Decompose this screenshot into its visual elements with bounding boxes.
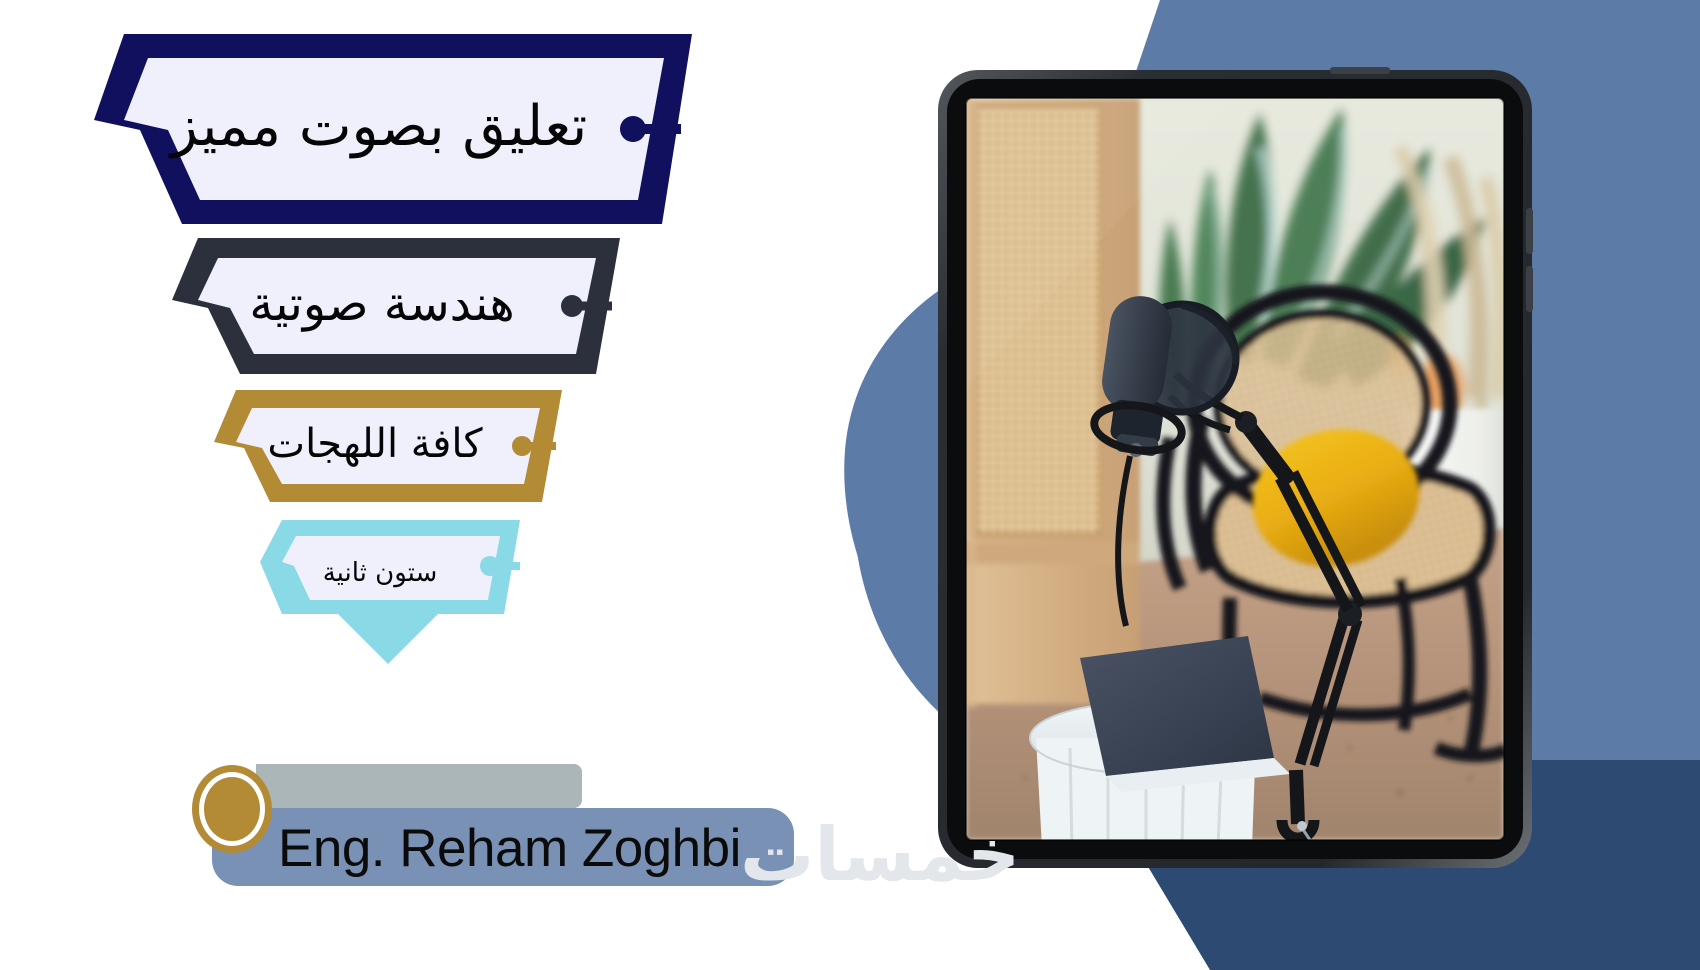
feature-banner-dialects-label: كافة اللهجات bbox=[267, 424, 482, 464]
feature-banner-voice[interactable]: تعليق بصوت مميز bbox=[78, 32, 696, 226]
feature-banner-duration[interactable]: ستون ثانية bbox=[252, 518, 524, 664]
banner-dot-stem bbox=[490, 562, 520, 570]
gold-ring-badge-icon bbox=[190, 764, 274, 854]
tablet-screen bbox=[950, 98, 1516, 865]
banner-dot-stem bbox=[572, 302, 612, 311]
signature-gray-bar bbox=[256, 764, 582, 808]
feature-banner-duration-label: ستون ثانية bbox=[323, 560, 438, 586]
tablet-volume-button-down[interactable] bbox=[1526, 266, 1533, 312]
watermark-khamsat: خمسات bbox=[740, 812, 1020, 898]
banner-dot-stem bbox=[633, 124, 681, 134]
author-name: Eng. Reham Zoghbi bbox=[278, 810, 798, 886]
poster-canvas: تعليق بصوت مميز هندسة صوتية كافة اللهجات… bbox=[0, 0, 1700, 970]
feature-banner-dialects[interactable]: كافة اللهجات bbox=[204, 388, 566, 504]
tablet-volume-button-up[interactable] bbox=[1526, 208, 1533, 254]
feature-banner-audio-engineering-label: هندسة صوتية bbox=[249, 280, 514, 328]
signature-block: Eng. Reham Zoghbi bbox=[190, 752, 830, 882]
tablet-top-button[interactable] bbox=[1330, 67, 1390, 74]
banner-dot-stem bbox=[522, 442, 556, 450]
feature-banner-voice-label: تعليق بصوت مميز bbox=[171, 99, 587, 155]
feature-banner-audio-engineering[interactable]: هندسة صوتية bbox=[160, 236, 624, 376]
tablet-mockup bbox=[930, 58, 1540, 888]
